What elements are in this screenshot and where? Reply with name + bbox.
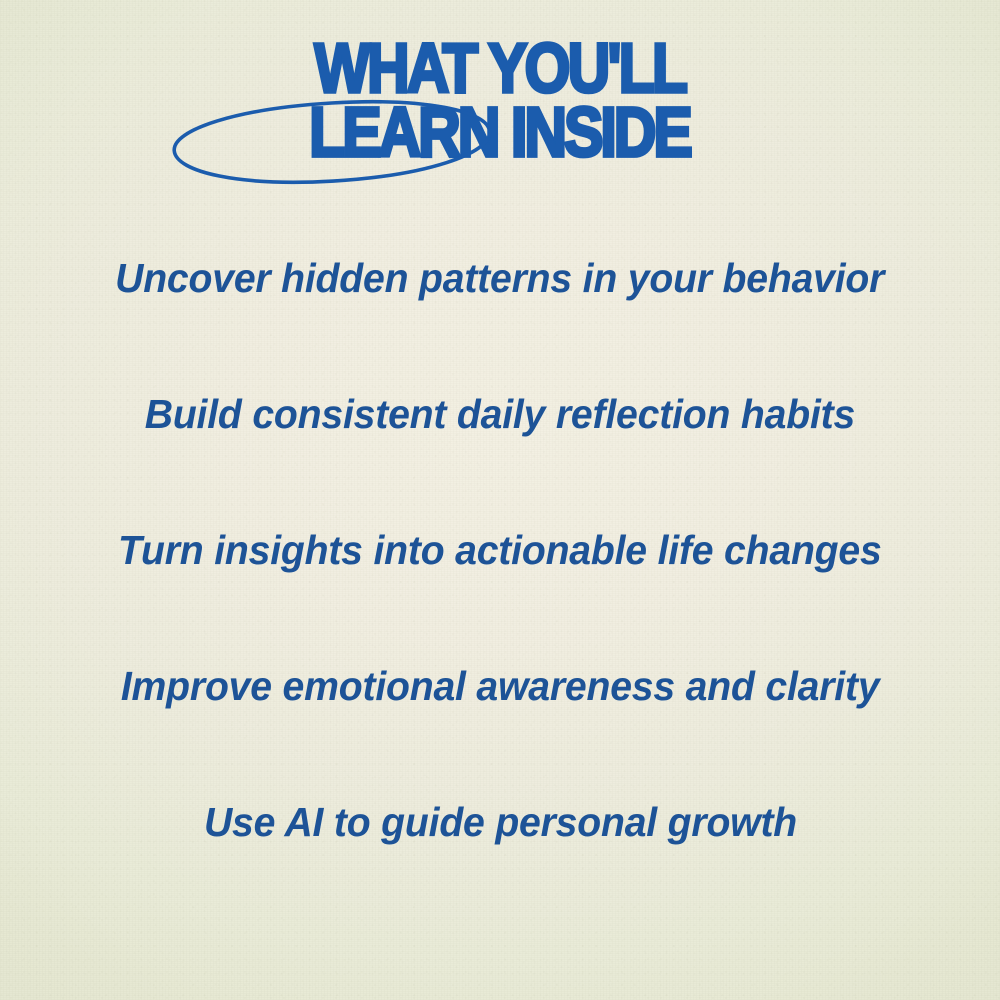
- headline-line-1: WHAT YOU'LL: [0, 38, 1000, 98]
- list-item: Uncover hidden patterns in your behavior: [0, 258, 1000, 394]
- list-item: Turn insights into actionable life chang…: [0, 530, 1000, 666]
- poster-canvas: WHAT YOU'LL LEARN INSIDE Uncover hidden …: [0, 0, 1000, 1000]
- benefit-text-2: Build consistent daily reflection habits: [145, 394, 855, 435]
- benefit-text-1: Uncover hidden patterns in your behavior: [115, 258, 884, 299]
- headline-line-2-text: LEARN INSIDE: [310, 102, 691, 162]
- list-item: Build consistent daily reflection habits: [0, 394, 1000, 530]
- list-item: Improve emotional awareness and clarity: [0, 666, 1000, 802]
- headline-line-2: LEARN INSIDE: [0, 102, 1000, 162]
- list-item: Use AI to guide personal growth: [0, 802, 1000, 938]
- benefit-text-5: Use AI to guide personal growth: [203, 802, 796, 843]
- benefit-text-3: Turn insights into actionable life chang…: [118, 530, 882, 571]
- headline-block: WHAT YOU'LL LEARN INSIDE: [0, 38, 1000, 162]
- headline-line-1-text: WHAT YOU'LL: [315, 38, 686, 98]
- benefit-text-4: Improve emotional awareness and clarity: [121, 666, 880, 707]
- benefits-list: Uncover hidden patterns in your behavior…: [0, 258, 1000, 938]
